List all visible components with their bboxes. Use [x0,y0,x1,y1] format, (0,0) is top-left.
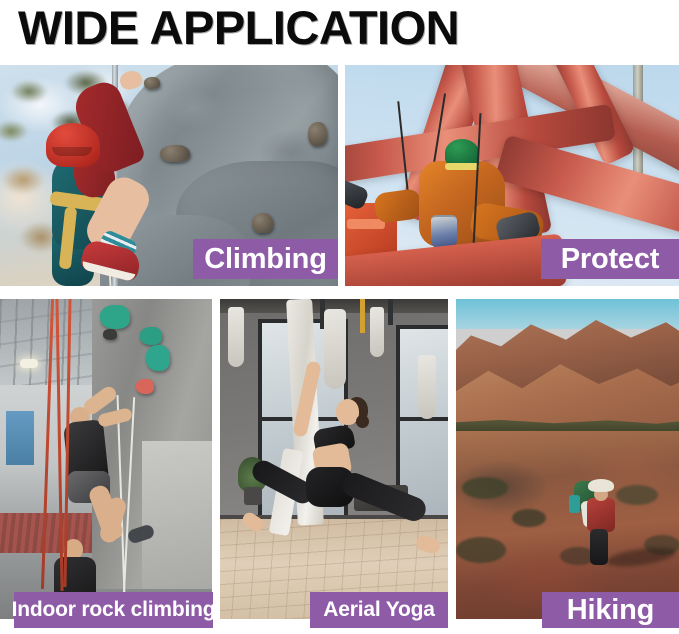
climbing-hold-red [136,379,154,394]
red-rock-terrain [456,431,679,619]
rock-hold [308,122,327,146]
blue-banner [6,411,34,465]
hanging-silk [324,309,346,389]
red-vest [587,498,615,532]
ceiling-strap [388,299,393,325]
caption-hiking: Hiking [542,592,679,628]
desert-scrub [616,485,658,505]
yogi-hair-bun [356,415,369,428]
ceiling-lamp [20,359,38,368]
climbing-hold-green [146,345,170,371]
rock-hold [144,77,160,89]
desert-scrub [456,537,506,563]
desert-scrub [462,477,508,499]
caption-aerial-yoga: Aerial Yoga [310,592,448,628]
caption-indoor-rock-climbing: Indoor rock climbing [14,592,213,628]
indoor-climbing-scene [0,299,212,619]
red-helmet [46,123,100,167]
rock-hold [252,213,273,233]
plant-pot [244,487,262,505]
aerial-yoga-scene [220,299,448,619]
page-title: WIDE APPLICATION [18,0,459,57]
green-hard-hat [445,139,479,166]
white-sun-hat [588,479,614,492]
water-bottle [569,495,580,513]
photo-tile-indoor-rock-climbing [0,299,212,619]
caption-climbing: Climbing [193,239,338,279]
climbing-hold-green [140,327,162,345]
ceiling-strap-yellow [360,299,365,333]
desert-scrub [512,509,546,527]
hanging-silk [228,307,244,367]
photo-tile-hiking [456,299,679,619]
climbing-wall-panel [142,441,212,589]
rock-hold [160,145,190,162]
hiking-scene [456,299,679,619]
caption-protect: Protect [541,239,679,279]
hiker-legs [590,529,608,565]
hanging-silk [418,355,436,419]
sky-background [456,299,679,329]
climbing-hold-dark [103,329,117,340]
hanging-silk [370,307,384,357]
climbing-hold-green [100,305,130,329]
photo-tile-aerial-yoga [220,299,448,619]
